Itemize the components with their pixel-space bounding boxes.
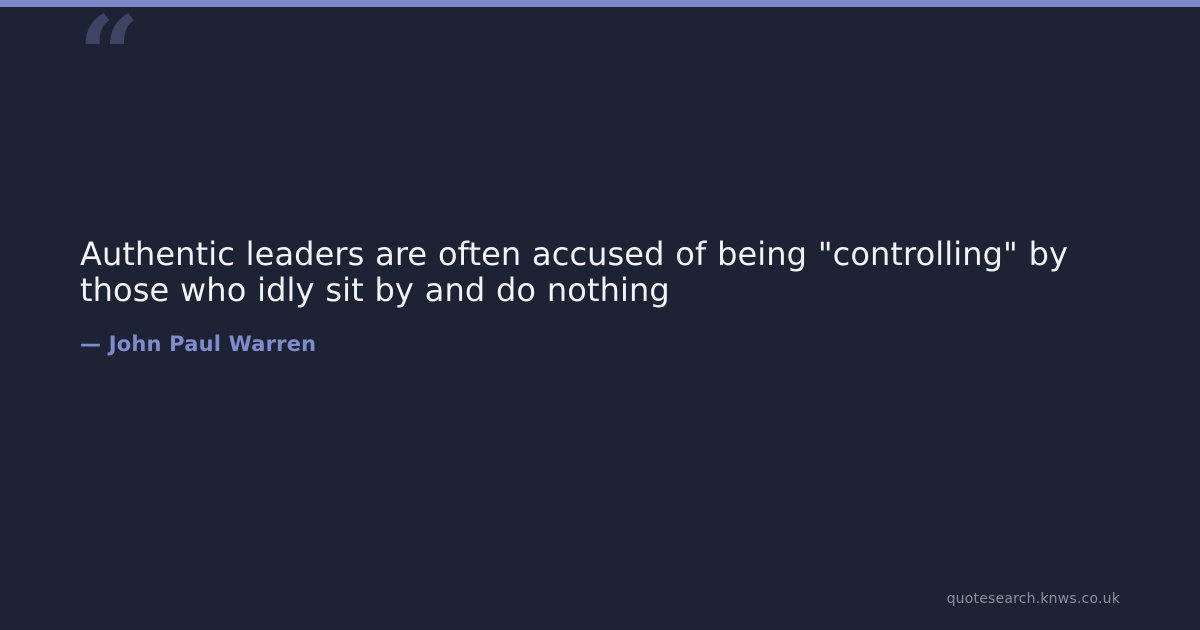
quote-attribution: — John Paul Warren: [80, 330, 1090, 358]
quote-content: Authentic leaders are often accused of b…: [80, 236, 1090, 358]
quote-text: Authentic leaders are often accused of b…: [80, 236, 1090, 308]
open-quote-icon: “: [78, 2, 138, 110]
top-accent-bar: [0, 0, 1200, 7]
quote-card: “ Authentic leaders are often accused of…: [0, 0, 1200, 630]
attribution-author-name: John Paul Warren: [109, 332, 317, 356]
site-watermark: quotesearch.knws.co.uk: [947, 590, 1120, 608]
attribution-dash: —: [80, 332, 101, 356]
